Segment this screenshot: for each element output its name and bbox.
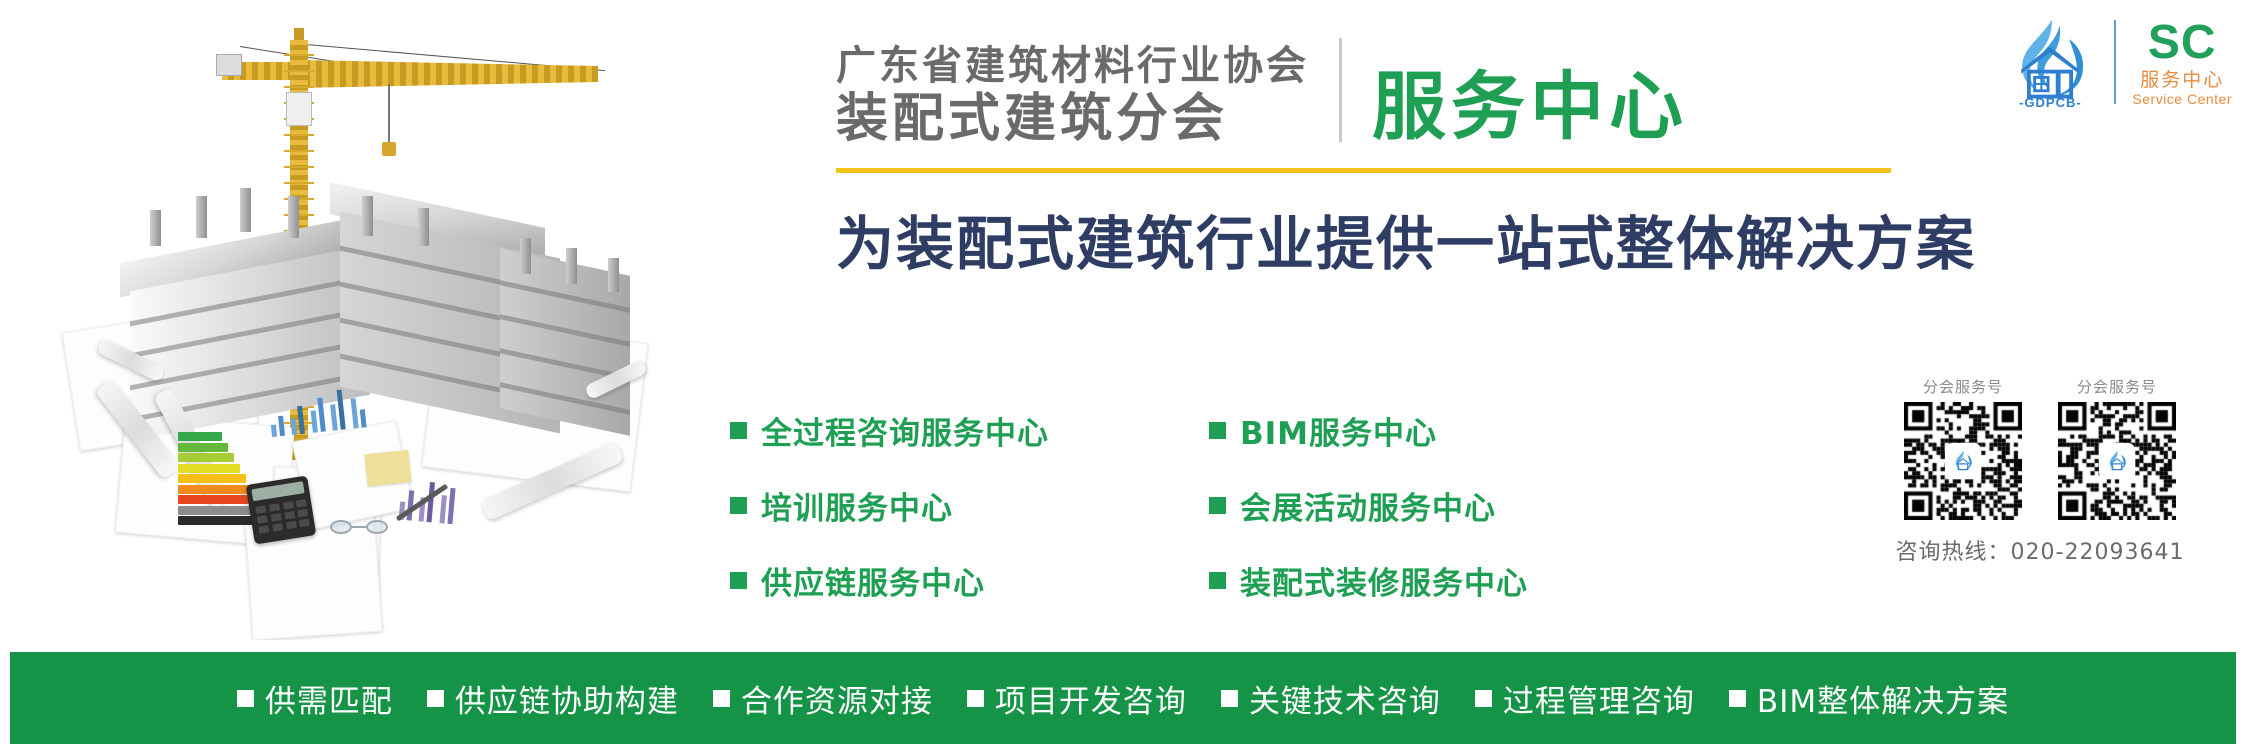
service-center-lists: 全过程咨询服务中心 培训服务中心 供应链服务中心 BIM服务中心 会展活动服务中… <box>730 408 1528 603</box>
tagline: 为装配式建筑行业提供一站式整体解决方案 <box>836 197 1916 281</box>
footer-item[interactable]: 合作资源对接 <box>713 676 933 721</box>
footer-item-label: 过程管理咨询 <box>1503 676 1695 721</box>
rebar-column <box>150 210 161 246</box>
footer-item[interactable]: 供需匹配 <box>237 676 393 721</box>
rebar-column <box>608 258 619 292</box>
headline-divider <box>1339 38 1342 142</box>
crane-cabin <box>286 92 312 126</box>
square-bullet-icon <box>730 422 747 439</box>
sc-initials: SC <box>2148 19 2217 67</box>
gdpcb-house-flame-icon: -GDPCB- <box>2002 14 2098 110</box>
logo-divider <box>2114 20 2116 104</box>
service-item[interactable]: 装配式装修服务中心 <box>1209 558 1528 603</box>
qr-code-cell[interactable]: 分会服务号 <box>1904 376 2022 520</box>
logo-mark-caption: -GDPCB- <box>2002 95 2098 110</box>
sc-english-label: Service Center <box>2132 92 2232 106</box>
square-bullet-icon <box>1209 497 1226 514</box>
footer-item-label: 合作资源对接 <box>741 676 933 721</box>
footer-item[interactable]: 供应链协助构建 <box>427 676 679 721</box>
qr-contact-block: 分会服务号 分会服务号 <box>1850 376 2230 566</box>
qr-caption: 分会服务号 <box>1923 376 2003 397</box>
association-line-1: 广东省建筑材料行业协会 <box>836 46 1309 87</box>
service-item-label: 培训服务中心 <box>761 483 953 528</box>
service-item-label: 供应链服务中心 <box>761 558 985 603</box>
footer-item-label: 供应链协助构建 <box>455 676 679 721</box>
service-item[interactable]: BIM服务中心 <box>1209 408 1528 453</box>
qr-caption: 分会服务号 <box>2077 376 2157 397</box>
sc-chinese-label: 服务中心 <box>2140 71 2224 90</box>
rebar-column <box>520 238 531 274</box>
qr-code-cell[interactable]: 分会服务号 <box>2058 376 2176 520</box>
rebar-column <box>288 196 299 238</box>
crane-counterweight <box>216 54 242 76</box>
service-list-right: BIM服务中心 会展活动服务中心 装配式装修服务中心 <box>1209 408 1528 603</box>
purple-bar-chart <box>398 480 459 531</box>
service-item[interactable]: 供应链服务中心 <box>730 558 1049 603</box>
square-bullet-icon <box>730 572 747 589</box>
rebar-column <box>418 208 429 246</box>
square-bullet-icon <box>1209 572 1226 589</box>
square-bullet-icon <box>713 690 730 707</box>
rebar-column <box>362 196 373 236</box>
logo-lockup: -GDPCB- SC 服务中心 Service Center <box>2002 10 2232 114</box>
service-item-label: 全过程咨询服务中心 <box>761 408 1049 453</box>
service-item[interactable]: 培训服务中心 <box>730 483 1049 528</box>
square-bullet-icon <box>967 690 984 707</box>
eyeglasses <box>330 520 388 538</box>
yellow-rule <box>836 168 1891 173</box>
service-center-title: 服务中心 <box>1372 70 1688 146</box>
headline-block: 广东省建筑材料行业协会 装配式建筑分会 服务中心 为装配式建筑行业提供一站式整体… <box>836 38 1916 281</box>
service-item[interactable]: 全过程咨询服务中心 <box>730 408 1049 453</box>
rebar-column <box>196 196 207 238</box>
rebar-column <box>240 188 251 232</box>
square-bullet-icon <box>730 497 747 514</box>
service-item-label: 装配式装修服务中心 <box>1240 558 1528 603</box>
association-line-2: 装配式建筑分会 <box>836 93 1309 146</box>
sticky-note <box>364 450 411 486</box>
square-bullet-icon <box>1209 422 1226 439</box>
association-name: 广东省建筑材料行业协会 装配式建筑分会 <box>836 46 1309 146</box>
sc-lockup: SC 服务中心 Service Center <box>2132 19 2232 106</box>
qr-code-image[interactable] <box>1904 402 2022 520</box>
footer-keyword-bar: 供需匹配 供应链协助构建 合作资源对接 项目开发咨询 关键技术咨询 过程管理咨询… <box>10 652 2236 744</box>
qr-code-image[interactable] <box>2058 402 2176 520</box>
footer-item-label: BIM整体解决方案 <box>1757 676 2009 721</box>
service-list-left: 全过程咨询服务中心 培训服务中心 供应链服务中心 <box>730 408 1049 603</box>
square-bullet-icon <box>427 690 444 707</box>
promotional-banner: -GDPCB- SC 服务中心 Service Center 广东省建筑材料行业… <box>0 0 2246 752</box>
square-bullet-icon <box>1221 690 1238 707</box>
crane-hoist-line <box>388 84 390 146</box>
footer-item-label: 项目开发咨询 <box>995 676 1187 721</box>
crane-hook <box>382 142 396 156</box>
square-bullet-icon <box>237 690 254 707</box>
gdpcb-logo-badge <box>1947 445 1979 477</box>
footer-item[interactable]: BIM整体解决方案 <box>1729 676 2009 721</box>
footer-item[interactable]: 项目开发咨询 <box>967 676 1187 721</box>
construction-3d-illustration <box>0 0 680 640</box>
square-bullet-icon <box>1729 690 1746 707</box>
gdpcb-logo-badge <box>2101 445 2133 477</box>
service-item-label: 会展活动服务中心 <box>1240 483 1496 528</box>
square-bullet-icon <box>1475 690 1492 707</box>
service-item-label: BIM服务中心 <box>1240 408 1437 453</box>
footer-item[interactable]: 过程管理咨询 <box>1475 676 1695 721</box>
hotline-text: 咨询热线：020-22093641 <box>1850 534 2230 566</box>
footer-item[interactable]: 关键技术咨询 <box>1221 676 1441 721</box>
rebar-column <box>566 248 577 284</box>
footer-item-label: 供需匹配 <box>265 676 393 721</box>
crane-jib <box>298 60 598 88</box>
calculator <box>246 476 317 545</box>
service-item[interactable]: 会展活动服务中心 <box>1209 483 1528 528</box>
footer-item-label: 关键技术咨询 <box>1249 676 1441 721</box>
